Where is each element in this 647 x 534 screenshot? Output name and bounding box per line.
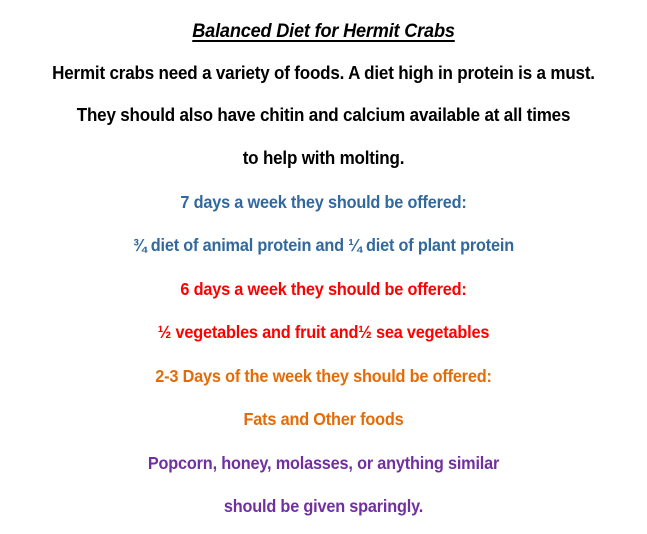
intro-line-1: Hermit crabs need a variety of foods. A … [26, 42, 621, 83]
document-page: Balanced Diet for Hermit Crabs Hermit cr… [0, 0, 647, 534]
section-six-days-heading: 6 days a week they should be offered: [23, 254, 625, 299]
intro-line-2: They should also have chitin and calcium… [26, 82, 621, 125]
section-seven-days-detail: ¾ diet of animal protein and ¼ diet of p… [23, 212, 625, 255]
section-two-three-days-heading: 2-3 Days of the week they should be offe… [23, 341, 625, 386]
section-two-three-days-detail: Fats and Other foods [23, 386, 625, 429]
intro-line-3: to help with molting. [26, 125, 621, 168]
section-seven-days-heading: 7 days a week they should be offered: [23, 167, 625, 212]
page-title: Balanced Diet for Hermit Crabs [23, 0, 625, 42]
section-sparingly-heading: Popcorn, honey, molasses, or anything si… [23, 428, 625, 473]
section-sparingly-detail: should be given sparingly. [23, 473, 625, 516]
section-six-days-detail: ½ vegetables and fruit and½ sea vegetabl… [23, 299, 625, 342]
